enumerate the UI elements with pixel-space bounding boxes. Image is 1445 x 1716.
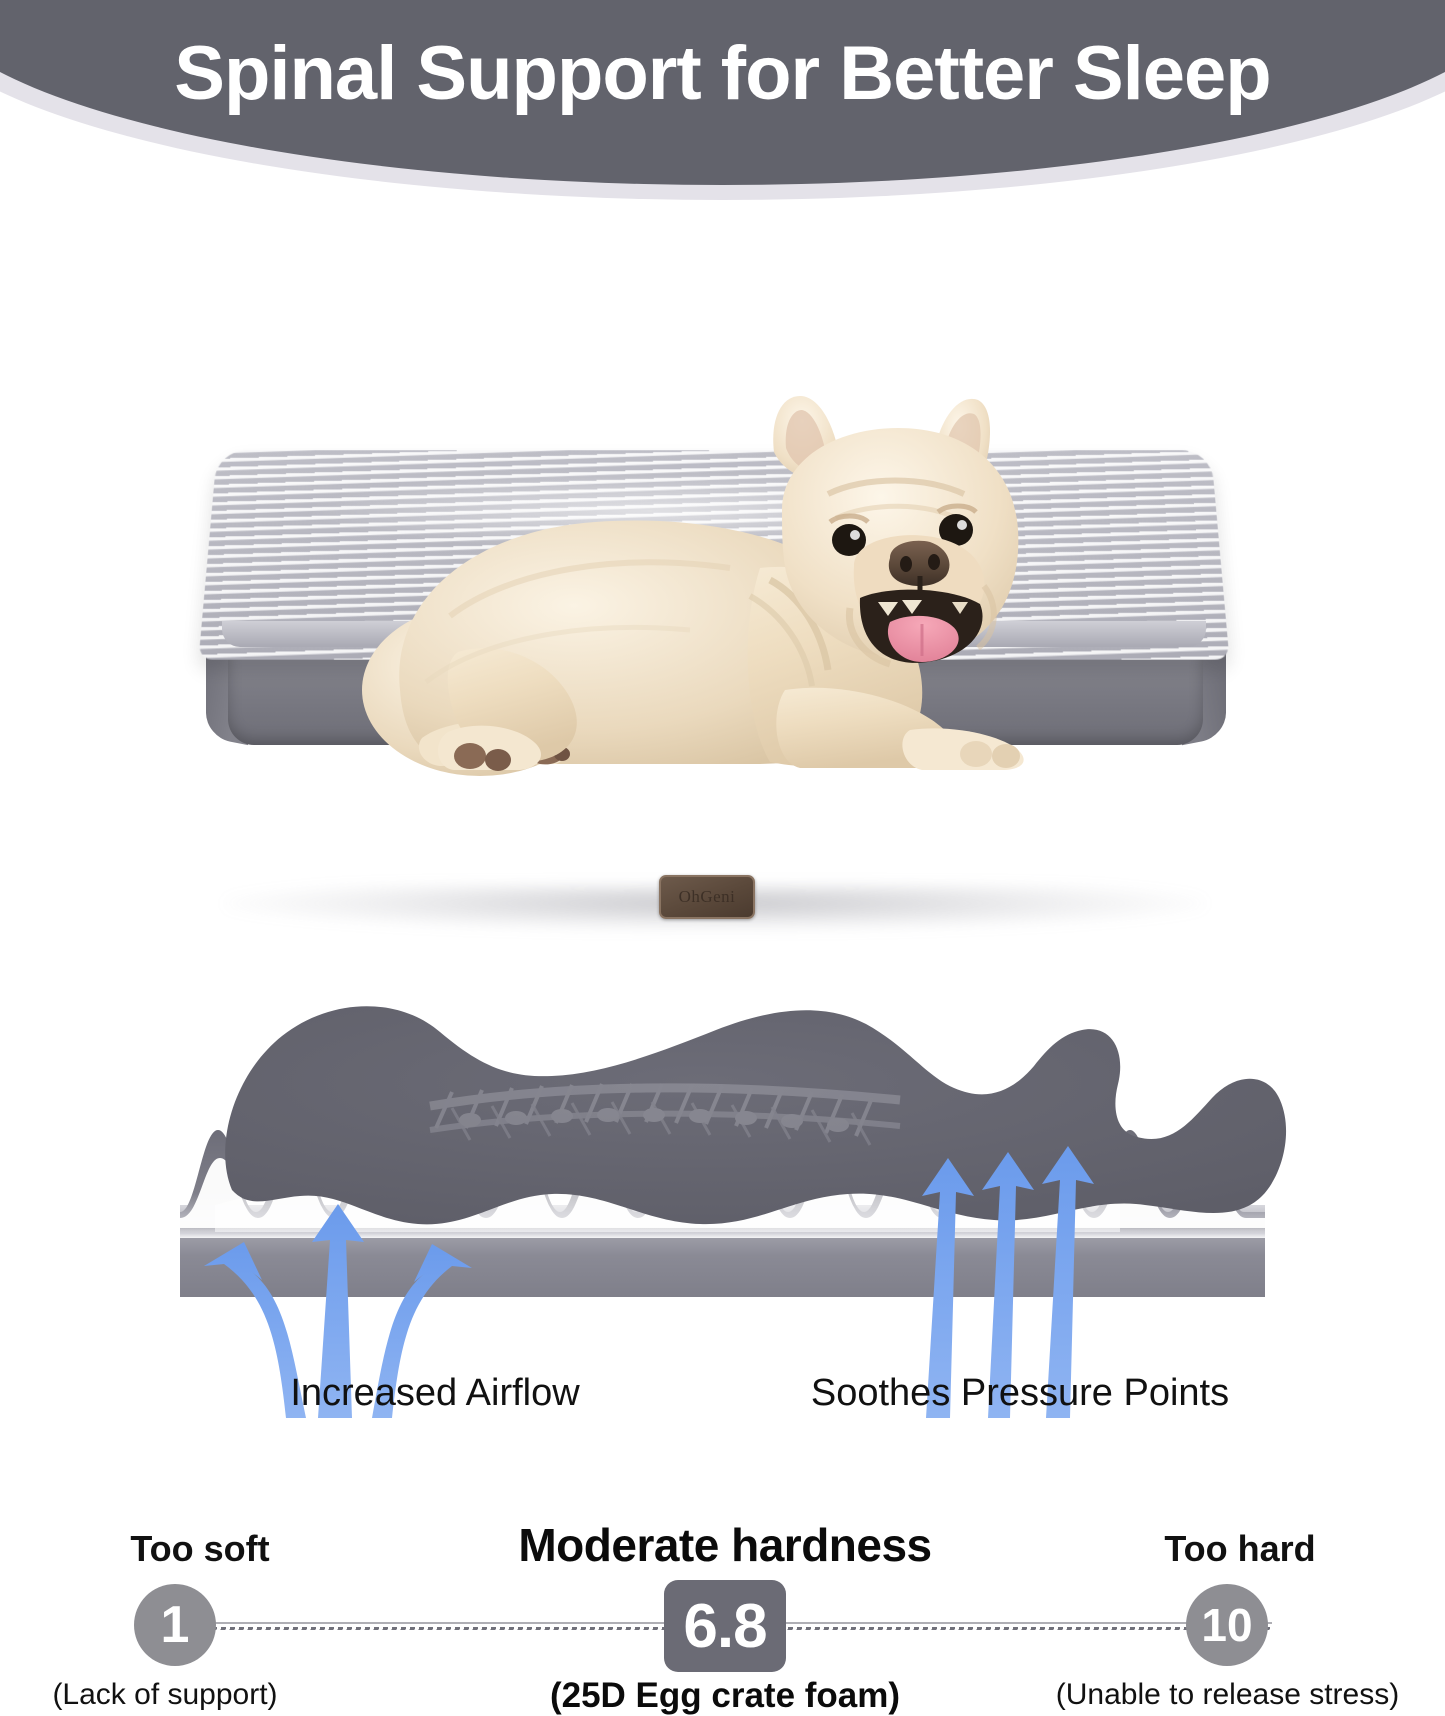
dog-illustration: [330, 390, 1090, 810]
scale-note-lack-of-support: (Lack of support): [0, 1678, 330, 1712]
hardness-scale: Too soft Moderate hardness Too hard 1 6.…: [0, 760, 1445, 975]
scale-note-foam-type: (25D Egg crate foam): [440, 1676, 1010, 1716]
dog-silhouette-top-view: [225, 1006, 1286, 1224]
scale-note-unable-to-release: (Unable to release stress): [1010, 1678, 1445, 1712]
product-hero: OhGeni: [0, 185, 1445, 770]
page-title: Spinal Support for Better Sleep: [0, 30, 1445, 117]
scale-label-too-hard: Too hard: [1095, 1528, 1385, 1570]
foam-cross-section-diagram: [0, 980, 1445, 1418]
scale-node-max: 10: [1186, 1584, 1268, 1666]
scale-value-badge: 6.8: [664, 1580, 786, 1672]
caption-soothes-pressure: Soothes Pressure Points: [750, 1372, 1290, 1415]
scale-label-moderate-hardness: Moderate hardness: [455, 1518, 995, 1572]
scale-node-min: 1: [134, 1584, 216, 1666]
header-banner: Spinal Support for Better Sleep: [0, 0, 1445, 215]
caption-increased-airflow: Increased Airflow: [215, 1372, 655, 1415]
scale-label-too-soft: Too soft: [70, 1528, 330, 1570]
